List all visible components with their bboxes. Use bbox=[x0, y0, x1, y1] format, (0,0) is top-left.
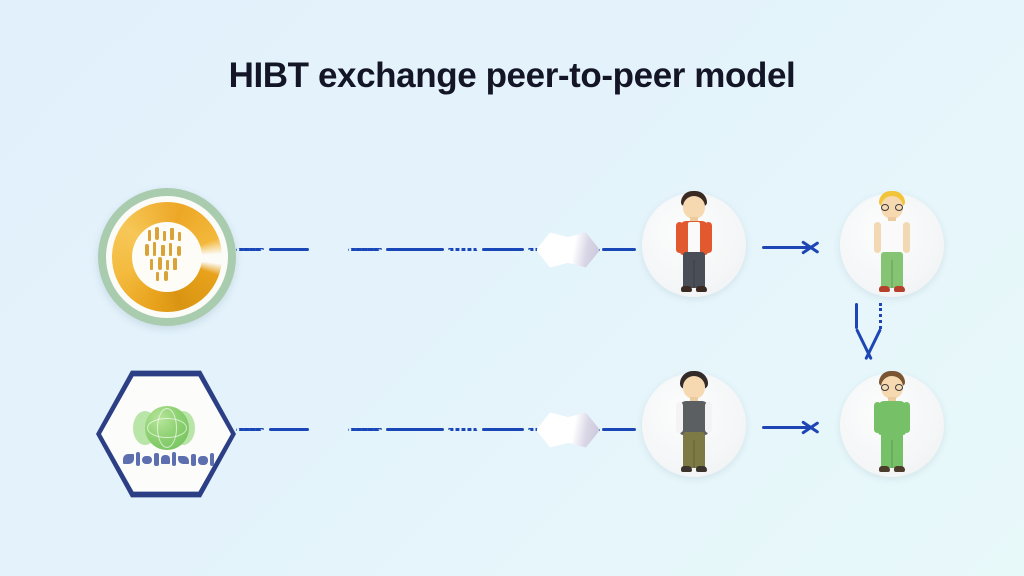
person-buyer-top bbox=[640, 187, 748, 299]
arm-left bbox=[874, 402, 881, 433]
head bbox=[683, 196, 705, 219]
shoe-left bbox=[879, 466, 890, 472]
coin-face bbox=[132, 222, 202, 292]
arm-left bbox=[874, 222, 881, 253]
shoe-right bbox=[894, 466, 905, 472]
coin-glyph-cluster bbox=[132, 222, 202, 292]
connector-top-seg-dash-1 bbox=[269, 248, 309, 251]
connector-bottom-hex-node bbox=[536, 411, 600, 449]
arm-left bbox=[676, 402, 683, 433]
person-seller-bottom-figure bbox=[868, 369, 916, 475]
connector-bottom-seg-dots-3 bbox=[448, 428, 478, 431]
arrow-bottom-transfer bbox=[762, 413, 832, 443]
shoe-left bbox=[879, 286, 890, 292]
person-buyer-top-figure bbox=[670, 189, 718, 295]
arm-right bbox=[903, 222, 910, 253]
shoe-right bbox=[894, 286, 905, 292]
connector-bottom-seg-dots-2 bbox=[348, 428, 382, 431]
connector-bottom-seg-dash-1 bbox=[269, 428, 309, 431]
connector-bottom-hex-shape bbox=[536, 411, 600, 449]
legs bbox=[881, 252, 903, 288]
connector-top-seg-dots-2 bbox=[348, 248, 382, 251]
connector-bottom bbox=[236, 409, 636, 449]
legs bbox=[683, 432, 705, 468]
connector-bottom-seg-dash-2 bbox=[386, 428, 444, 431]
arrow-vertical-head-right bbox=[864, 328, 882, 360]
connector-top-hex-node bbox=[536, 231, 600, 269]
shoe-left bbox=[681, 286, 692, 292]
globe-sphere bbox=[145, 406, 189, 450]
arm-right bbox=[705, 222, 712, 253]
person-buyer-bottom-figure bbox=[670, 369, 718, 475]
legs bbox=[881, 432, 903, 468]
connector-bottom-seg-dots-1 bbox=[236, 428, 264, 431]
shoe-left bbox=[681, 466, 692, 472]
connector-bottom-seg-dash-3 bbox=[482, 428, 524, 431]
arrow-vertical-stem-solid bbox=[855, 303, 858, 329]
page-title: HIBT exchange peer-to-peer model bbox=[0, 56, 1024, 96]
arrow-vertical-link bbox=[843, 303, 903, 365]
arm-left bbox=[676, 222, 683, 253]
head bbox=[683, 376, 705, 399]
hexagon-globe-badge-icon bbox=[96, 368, 236, 500]
person-seller-top-figure bbox=[868, 189, 916, 295]
diagram-canvas: HIBT exchange peer-to-peer model bbox=[0, 0, 1024, 576]
shirt bbox=[886, 402, 898, 434]
arm-right bbox=[705, 402, 712, 433]
shirt bbox=[886, 222, 898, 254]
legs bbox=[683, 252, 705, 288]
connector-top-seg-dash-3 bbox=[482, 248, 524, 251]
person-buyer-bottom bbox=[640, 367, 748, 479]
shoe-right bbox=[696, 286, 707, 292]
connector-top-seg-dots-3 bbox=[448, 248, 478, 251]
glasses-icon bbox=[881, 204, 903, 211]
arrow-top-stem bbox=[762, 246, 810, 249]
connector-top-seg-dots-1 bbox=[236, 248, 264, 251]
shoe-right bbox=[696, 466, 707, 472]
connector-top-seg-dash-4 bbox=[602, 248, 636, 251]
shirt bbox=[688, 402, 700, 434]
person-seller-bottom bbox=[838, 367, 946, 479]
connector-top-hex-shape bbox=[536, 231, 600, 269]
glasses-icon bbox=[881, 384, 903, 391]
person-seller-top bbox=[838, 187, 946, 299]
arrow-vertical-stem-dotted bbox=[879, 303, 882, 329]
shirt bbox=[688, 222, 700, 254]
coin-token-icon bbox=[98, 188, 236, 326]
arm-right bbox=[903, 402, 910, 433]
globe-icon bbox=[133, 406, 195, 454]
badge-caption-scribble bbox=[121, 451, 221, 468]
arrow-top-transfer bbox=[762, 233, 832, 263]
connector-top bbox=[236, 229, 636, 269]
connector-top-seg-dash-2 bbox=[386, 248, 444, 251]
connector-bottom-seg-dash-4 bbox=[602, 428, 636, 431]
arrow-bottom-stem bbox=[762, 426, 810, 429]
